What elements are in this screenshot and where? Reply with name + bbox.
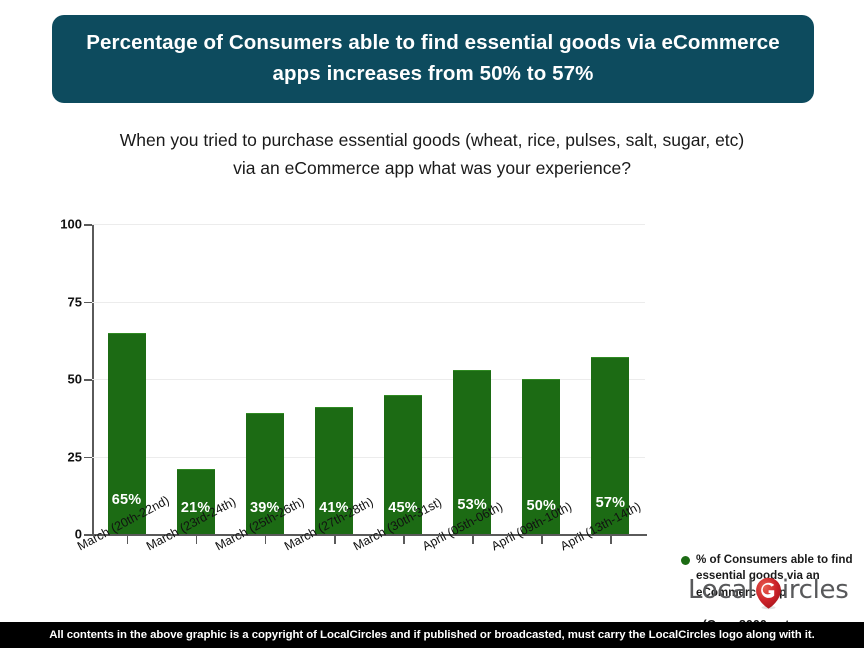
map-pin-c-icon	[755, 577, 782, 604]
header-banner: Percentage of Consumers able to find ess…	[52, 15, 814, 103]
survey-question: When you tried to purchase essential goo…	[108, 126, 756, 183]
gridline	[92, 457, 645, 458]
logo-text-before: Local	[688, 575, 754, 605]
gridline	[92, 302, 645, 303]
y-tick-label: 75	[22, 294, 82, 309]
x-tick-mark	[403, 535, 405, 544]
x-tick-mark	[127, 535, 129, 544]
logo-text-after: ircles	[782, 575, 849, 605]
legend-marker-icon	[681, 556, 690, 565]
bar-chart: 0255075100 65%21%39%41%45%53%50%57% Marc…	[0, 205, 864, 615]
localcircles-logo: Local ircles	[688, 569, 838, 611]
y-tick-label: 100	[22, 217, 82, 232]
x-tick-mark	[472, 535, 474, 544]
plot-area: 65%21%39%41%45%53%50%57%	[92, 224, 645, 534]
x-tick-mark	[610, 535, 612, 544]
x-tick-mark	[265, 535, 267, 544]
x-tick-mark	[541, 535, 543, 544]
copyright-text: All contents in the above graphic is a c…	[49, 629, 815, 641]
y-tick-label: 25	[22, 449, 82, 464]
y-tick-label: 50	[22, 372, 82, 387]
bar[interactable]: 65%	[108, 333, 146, 535]
gridline	[92, 224, 645, 225]
y-tick-label: 0	[22, 527, 82, 542]
x-tick-mark	[196, 535, 198, 544]
x-tick-mark	[334, 535, 336, 544]
footer-bar: All contents in the above graphic is a c…	[0, 622, 864, 648]
gridline	[92, 379, 645, 380]
page-title: Percentage of Consumers able to find ess…	[80, 28, 786, 90]
